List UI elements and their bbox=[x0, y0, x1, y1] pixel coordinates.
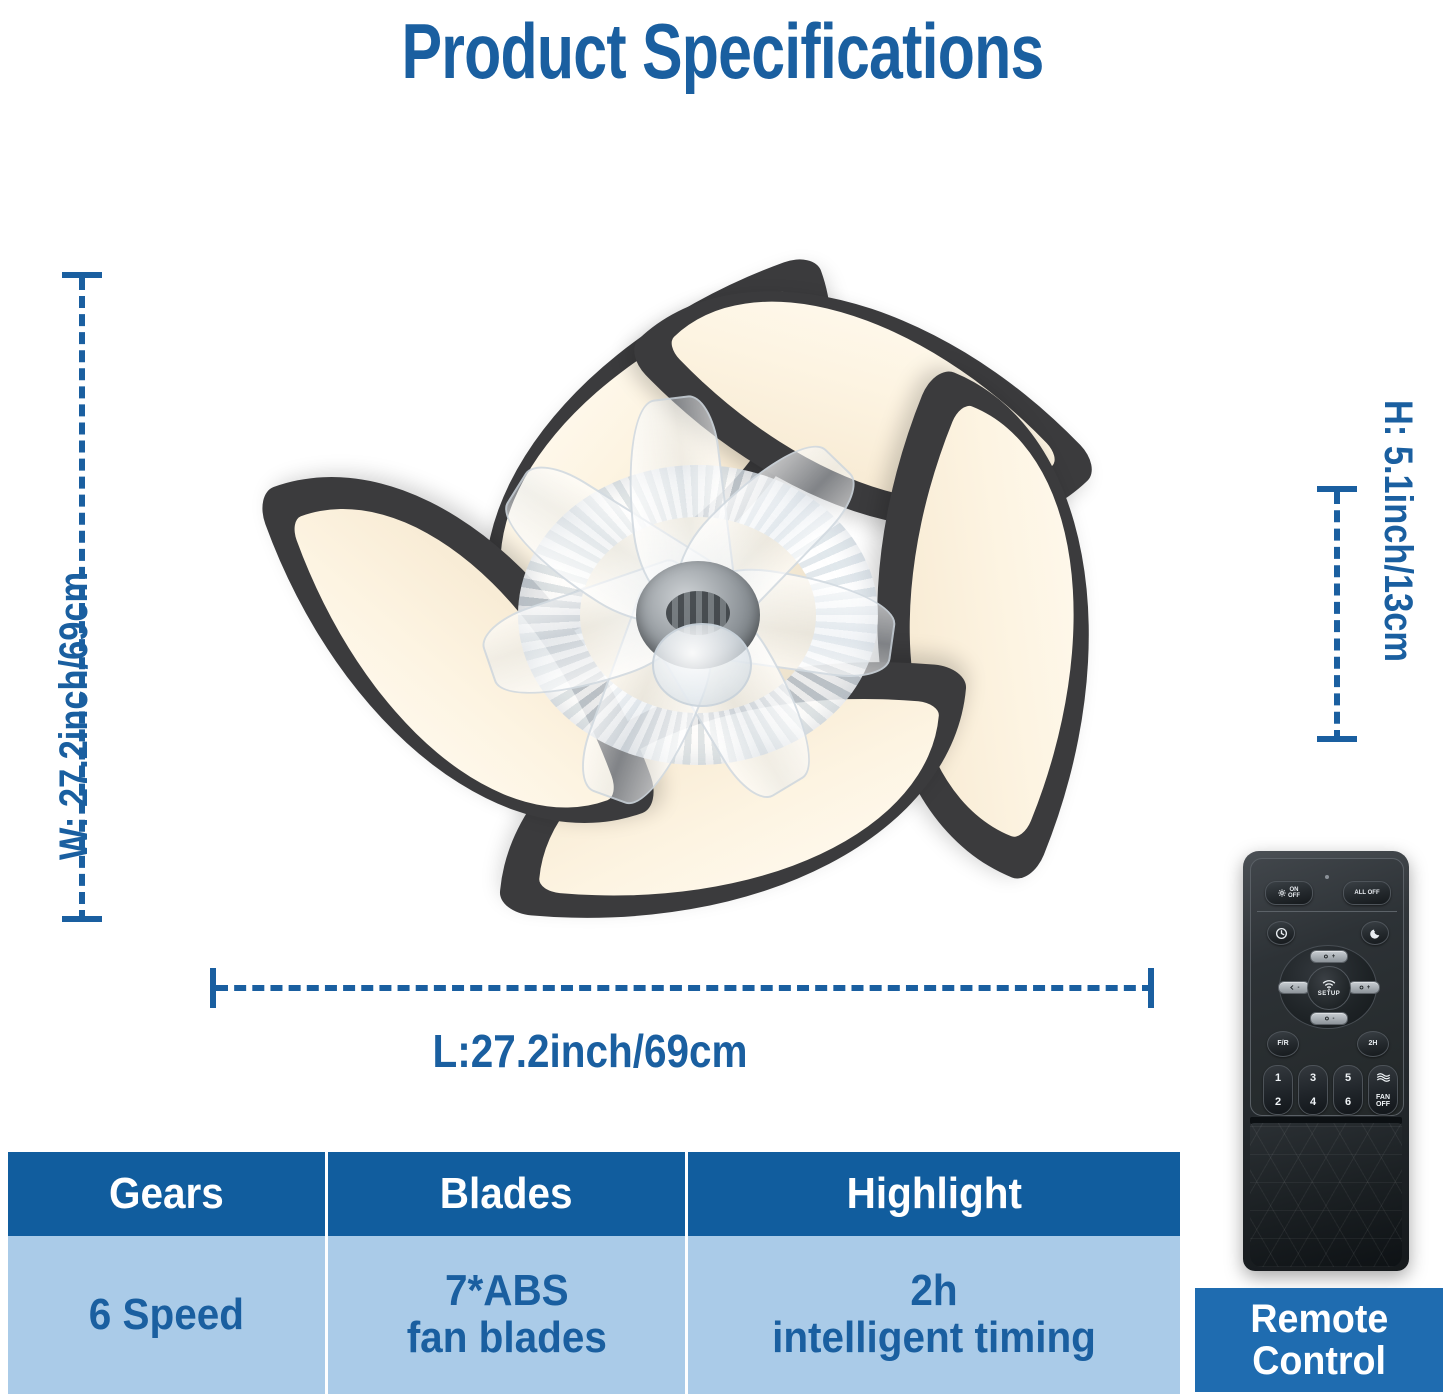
forward-reverse-button[interactable]: F/R bbox=[1267, 1031, 1299, 1057]
on-off-button[interactable]: ON OFF bbox=[1265, 881, 1313, 905]
length-dimension-cap-left bbox=[210, 968, 216, 1008]
table-header-highlight: Highlight bbox=[688, 1152, 1180, 1236]
height-dimension-cap-top bbox=[1317, 486, 1357, 492]
forward-reverse-label: F/R bbox=[1277, 1040, 1288, 1047]
brightness-down-label: - bbox=[1333, 1016, 1335, 1022]
on-off-label: ON OFF bbox=[1288, 887, 1300, 900]
length-dimension-label: L:27.2inch/69cm bbox=[71, 1024, 1109, 1078]
specification-table: Gears Blades Highlight 6 Speed 7*ABS fan… bbox=[8, 1152, 1180, 1394]
all-off-button[interactable]: ALL OFF bbox=[1343, 881, 1391, 905]
table-cell-gears-text: 6 Speed bbox=[89, 1292, 244, 1339]
speed-6-label: 6 bbox=[1345, 1096, 1351, 1108]
height-dimension-cap-bottom bbox=[1317, 736, 1357, 742]
wave-icon bbox=[1376, 1072, 1391, 1083]
page-title: Product Specifications bbox=[159, 6, 1286, 97]
speed-4-label: 4 bbox=[1310, 1096, 1316, 1108]
setup-button[interactable]: SETUP bbox=[1307, 966, 1351, 1010]
ir-led-icon bbox=[1325, 875, 1329, 879]
remote-control-caption: Remote Control bbox=[1195, 1288, 1443, 1392]
moon-star-icon bbox=[1369, 927, 1382, 940]
fan-speed-up-label: + bbox=[1367, 985, 1371, 991]
arrow-left-icon bbox=[1289, 984, 1296, 991]
table-row: 6 Speed 7*ABS fan blades 2h intelligent … bbox=[8, 1236, 1180, 1394]
fan-off-button[interactable]: FAN OFF bbox=[1368, 1065, 1398, 1115]
bulb-icon bbox=[1358, 984, 1365, 991]
directional-pad: + - - + bbox=[1279, 945, 1377, 1029]
table-header-blades: Blades bbox=[328, 1152, 688, 1236]
two-hour-timer-button[interactable]: 2H bbox=[1357, 1031, 1389, 1057]
two-hour-timer-label: 2H bbox=[1369, 1040, 1378, 1047]
table-cell-gears-value: 6 Speed bbox=[8, 1236, 328, 1394]
table-cell-highlight-text: 2h intelligent timing bbox=[772, 1268, 1096, 1361]
night-mode-button[interactable] bbox=[1361, 921, 1389, 945]
panel-divider bbox=[1257, 911, 1397, 912]
remote-caption-line2: Control bbox=[1252, 1340, 1386, 1382]
brightness-up-label: + bbox=[1332, 954, 1336, 960]
brightness-down-button[interactable]: - bbox=[1310, 1012, 1348, 1025]
speed-button-1-2[interactable]: 1 2 bbox=[1263, 1065, 1293, 1115]
fan-speed-down-label: - bbox=[1298, 985, 1300, 991]
length-dimension-cap-right bbox=[1148, 968, 1154, 1008]
table-header-gears-label: Gears bbox=[109, 1169, 224, 1219]
speed-1-label: 1 bbox=[1275, 1072, 1281, 1084]
table-header-row: Gears Blades Highlight bbox=[8, 1152, 1180, 1236]
product-specification-page: Product Specifications bbox=[0, 0, 1445, 1394]
width-dimension-cap-top bbox=[62, 272, 102, 278]
length-dimension-line bbox=[216, 985, 1154, 991]
width-dimension-label: W: 27.2inch/69cm bbox=[52, 572, 97, 860]
fan-off-label: FAN OFF bbox=[1376, 1094, 1390, 1108]
bulb-icon bbox=[1323, 953, 1330, 960]
gear-icon bbox=[1278, 889, 1286, 897]
fan-hub bbox=[518, 465, 878, 765]
table-cell-highlight-value: 2h intelligent timing bbox=[688, 1236, 1180, 1394]
height-dimension-line bbox=[1334, 492, 1340, 742]
fan-speed-down-button[interactable]: - bbox=[1278, 981, 1310, 994]
table-header-blades-label: Blades bbox=[440, 1169, 573, 1219]
clock-icon bbox=[1275, 927, 1288, 940]
wifi-signal-icon bbox=[1322, 979, 1336, 990]
speed-button-3-4[interactable]: 3 4 bbox=[1298, 1065, 1328, 1115]
speed-3-label: 3 bbox=[1310, 1072, 1316, 1084]
speed-2-label: 2 bbox=[1275, 1096, 1281, 1108]
product-image-ceiling-fan bbox=[95, 255, 1280, 955]
blade-hub-cap bbox=[652, 623, 752, 707]
remote-grip-texture bbox=[1250, 1123, 1402, 1267]
width-dimension-cap-bottom bbox=[62, 916, 102, 922]
table-header-highlight-label: Highlight bbox=[846, 1169, 1021, 1219]
table-cell-blades-value: 7*ABS fan blades bbox=[328, 1236, 688, 1394]
speed-button-5-6[interactable]: 5 6 bbox=[1333, 1065, 1363, 1115]
setup-label: SETUP bbox=[1318, 991, 1341, 997]
height-dimension-label: H: 5.1inch/13cm bbox=[1375, 400, 1420, 662]
fan-speed-up-button[interactable]: + bbox=[1348, 981, 1380, 994]
remote-button-panel: ON OFF ALL OFF bbox=[1250, 858, 1404, 1116]
timer-button[interactable] bbox=[1267, 921, 1295, 945]
all-off-label: ALL OFF bbox=[1354, 890, 1379, 896]
table-cell-blades-text: 7*ABS fan blades bbox=[406, 1268, 606, 1361]
bulb-icon bbox=[1324, 1015, 1331, 1022]
speed-5-label: 5 bbox=[1345, 1072, 1351, 1084]
brightness-up-button[interactable]: + bbox=[1310, 950, 1348, 963]
remote-control-device: ON OFF ALL OFF bbox=[1243, 851, 1409, 1271]
remote-caption-line1: Remote bbox=[1250, 1298, 1388, 1340]
table-header-gears: Gears bbox=[8, 1152, 328, 1236]
